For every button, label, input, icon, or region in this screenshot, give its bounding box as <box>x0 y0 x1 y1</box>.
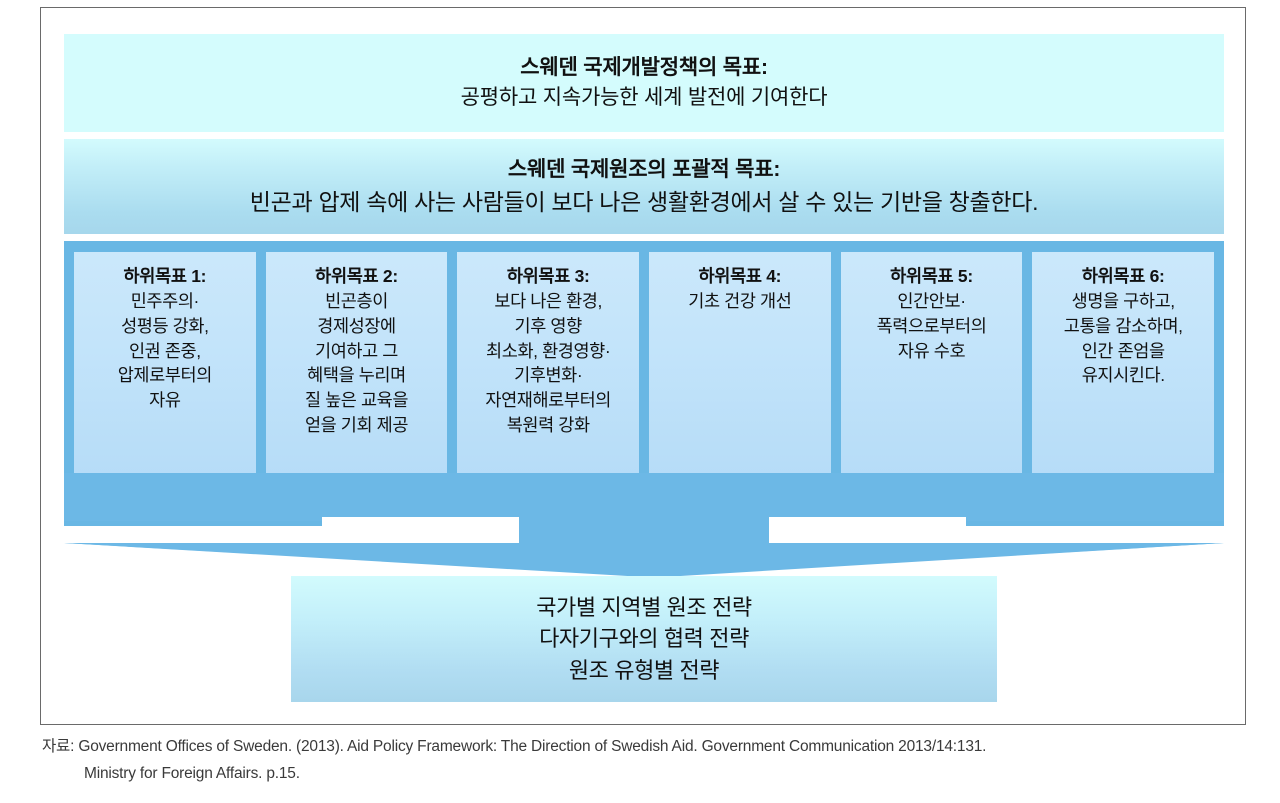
figure-frame: 스웨덴 국제개발정책의 목표: 공평하고 지속가능한 세계 발전에 기여한다 스… <box>40 7 1246 725</box>
subgoal-2-text: 빈곤층이 경제성장에 기여하고 그 혜택을 누리며 질 높은 교육을 얻을 기회… <box>272 289 442 438</box>
subgoal-6-text: 생명을 구하고, 고통을 감소하며, 인간 존엄을 유지시킨다. <box>1038 289 1208 388</box>
subgoal-2-title: 하위목표 2: <box>272 264 442 289</box>
source-line-2: Ministry for Foreign Affairs. p.15. <box>42 760 1257 787</box>
source-caption: 자료: Government Offices of Sweden. (2013)… <box>42 733 1257 787</box>
aid-policy-diagram: 스웨덴 국제개발정책의 목표: 공평하고 지속가능한 세계 발전에 기여한다 스… <box>41 8 1247 726</box>
policy-goal-band: 스웨덴 국제개발정책의 목표: 공평하고 지속가능한 세계 발전에 기여한다 <box>64 34 1224 132</box>
down-arrow-icon <box>64 473 1224 585</box>
policy-goal-title: 스웨덴 국제개발정책의 목표: <box>520 53 768 83</box>
subgoal-box-2: 하위목표 2: 빈곤층이 경제성장에 기여하고 그 혜택을 누리며 질 높은 교… <box>266 252 448 496</box>
subgoal-box-6: 하위목표 6: 생명을 구하고, 고통을 감소하며, 인간 존엄을 유지시킨다. <box>1032 252 1214 496</box>
subgoal-box-4: 하위목표 4: 기초 건강 개선 <box>649 252 831 496</box>
subgoal-1-text: 민주주의· 성평등 강화, 인권 존중, 압제로부터의 자유 <box>80 289 250 413</box>
strategy-line-2: 다자기구와의 협력 전략 <box>539 623 749 654</box>
subgoal-5-text: 인간안보· 폭력으로부터의 자유 수호 <box>847 289 1017 364</box>
aid-goal-title: 스웨덴 국제원조의 포괄적 목표: <box>508 154 780 186</box>
subgoal-5-title: 하위목표 5: <box>847 264 1017 289</box>
source-line-1: 자료: Government Offices of Sweden. (2013)… <box>42 738 986 755</box>
subgoal-box-5: 하위목표 5: 인간안보· 폭력으로부터의 자유 수호 <box>841 252 1023 496</box>
subgoals-row: 하위목표 1: 민주주의· 성평등 강화, 인권 존중, 압제로부터의 자유 하… <box>74 252 1214 496</box>
subgoal-6-title: 하위목표 6: <box>1038 264 1208 289</box>
subgoal-3-text: 보다 나은 환경, 기후 영향 최소화, 환경영향· 기후변화· 자연재해로부터… <box>463 289 633 438</box>
strategy-line-1: 국가별 지역별 원조 전략 <box>536 592 752 623</box>
strategies-box: 국가별 지역별 원조 전략 다자기구와의 협력 전략 원조 유형별 전략 <box>291 576 997 702</box>
policy-goal-text: 공평하고 지속가능한 세계 발전에 기여한다 <box>461 83 828 113</box>
aid-goal-text: 빈곤과 압제 속에 사는 사람들이 보다 나은 생활환경에서 살 수 있는 기반… <box>250 185 1038 220</box>
subgoal-3-title: 하위목표 3: <box>463 264 633 289</box>
subgoal-box-1: 하위목표 1: 민주주의· 성평등 강화, 인권 존중, 압제로부터의 자유 <box>74 252 256 496</box>
subgoal-1-title: 하위목표 1: <box>80 264 250 289</box>
subgoal-box-3: 하위목표 3: 보다 나은 환경, 기후 영향 최소화, 환경영향· 기후변화·… <box>457 252 639 496</box>
aid-goal-band: 스웨덴 국제원조의 포괄적 목표: 빈곤과 압제 속에 사는 사람들이 보다 나… <box>64 139 1224 234</box>
subgoal-4-text: 기초 건강 개선 <box>655 289 825 314</box>
subgoal-4-title: 하위목표 4: <box>655 264 825 289</box>
strategy-line-3: 원조 유형별 전략 <box>569 655 719 686</box>
